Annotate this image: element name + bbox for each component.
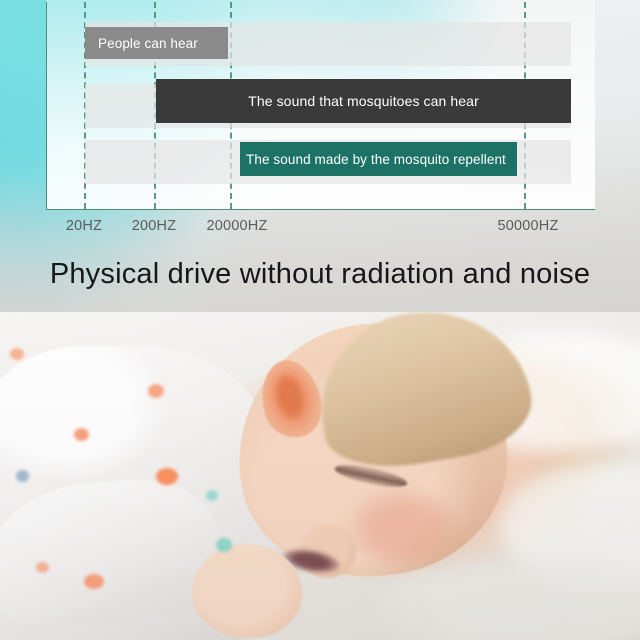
tick-label-200hz: 200HZ [132, 218, 177, 234]
bar-mosquitoes-can-hear: The sound that mosquitoes can hear [156, 79, 571, 123]
sleeping-baby-photo [0, 312, 640, 640]
screenshot-root: People can hear The sound that mosquitoe… [0, 0, 640, 640]
bar-people-can-hear: People can hear [85, 27, 228, 59]
bar-label-mosquito-repellent-sound: The sound made by the mosquito repellent [246, 152, 506, 167]
bar-mosquito-repellent-sound: The sound made by the mosquito repellent [240, 142, 517, 176]
bar-label-mosquitoes-can-hear: The sound that mosquitoes can hear [248, 93, 479, 109]
bar-label-people-can-hear: People can hear [98, 36, 198, 51]
photo-vignette [0, 312, 640, 640]
tick-label-50000hz: 50000HZ [497, 218, 558, 234]
chart-x-axis [46, 209, 595, 210]
tick-label-20hz: 20HZ [66, 218, 102, 234]
chart-y-axis [46, 2, 47, 210]
tick-label-20000hz: 20000HZ [206, 218, 267, 234]
page-headline: Physical drive without radiation and noi… [0, 258, 640, 291]
